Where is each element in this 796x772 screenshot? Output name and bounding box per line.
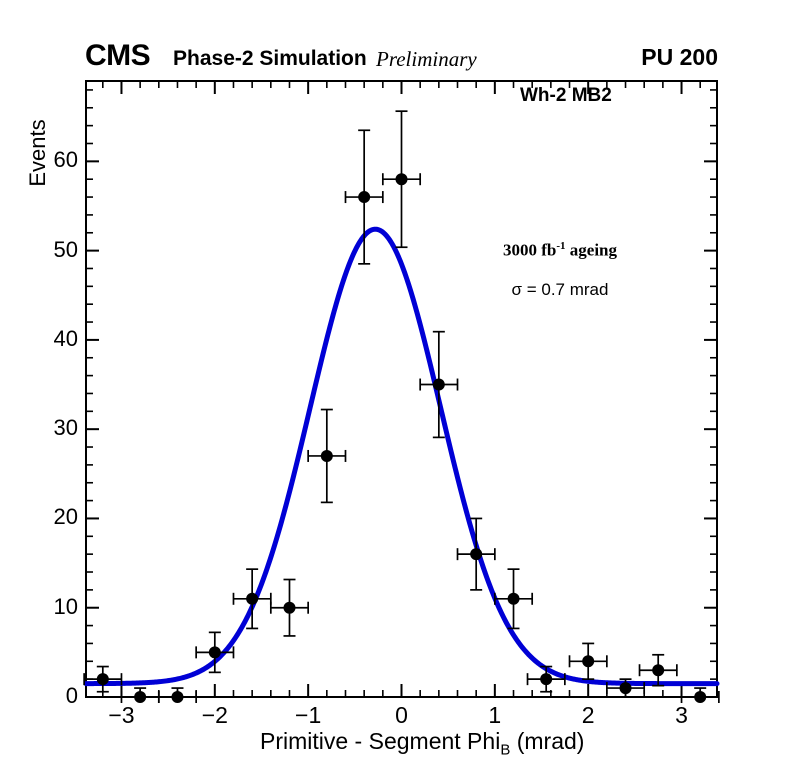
data-point — [682, 688, 719, 703]
data-point — [570, 643, 607, 679]
data-point — [84, 667, 121, 692]
data-point — [196, 632, 233, 672]
plot-graphics — [0, 0, 796, 772]
data-point — [383, 111, 420, 247]
data-points — [84, 111, 719, 703]
data-point — [528, 667, 565, 692]
data-point — [271, 580, 308, 636]
data-point — [159, 688, 196, 703]
data-point — [495, 569, 532, 628]
plot-canvas: CMS Phase-2 Simulation Preliminary PU 20… — [0, 0, 796, 772]
fit-curve — [86, 229, 717, 683]
data-point — [121, 688, 158, 703]
data-point — [345, 130, 382, 264]
data-point — [308, 410, 345, 503]
